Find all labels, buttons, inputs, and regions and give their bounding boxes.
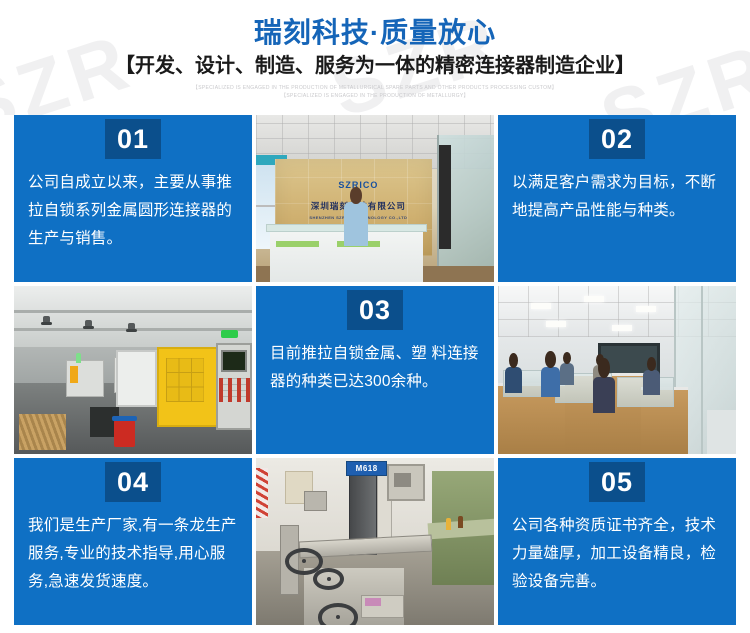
header-text-group: 瑞刻科技·质量放心 【开发、设计、制造、服务为一体的精密连接器制造企业】 【SP… — [0, 0, 750, 100]
feature-cell-01[interactable]: 01 公司自成立以来，主要从事推拉自锁系列金属圆形连接器的生产与销售。 — [14, 115, 252, 282]
office-worker — [541, 367, 560, 397]
wall-electrical-box — [304, 491, 328, 511]
timber-stack — [19, 414, 67, 451]
reception-photo[interactable]: SZRICO 深圳瑞刻科技有限公司 SHENZHEN SZRICO TECHNO… — [256, 115, 494, 282]
feature-body-text: 目前推拉自锁金属、塑 料连接器的种类已达300余种。 — [256, 340, 494, 396]
office-corridor-floor — [707, 410, 736, 454]
cnc-button-keypad — [219, 378, 250, 401]
ceiling-light-panel — [584, 296, 604, 302]
feature-number-badge: 03 — [347, 290, 403, 330]
feature-number-badge: 02 — [589, 119, 645, 159]
machine-model-label: M618 — [346, 461, 386, 476]
feature-number-badge: 01 — [105, 119, 161, 159]
workshop-ceiling — [14, 286, 252, 346]
english-tagline-2: 【SPECIALIZED IS ENGAGED IN THE PRODUCTIO… — [0, 91, 750, 100]
handwheel — [313, 568, 344, 590]
reception-photo-image: SZRICO 深圳瑞刻科技有限公司 SHENZHEN SZRICO TECHNO… — [256, 115, 494, 282]
page-title: 瑞刻科技·质量放心 — [0, 16, 750, 50]
grinder-photo-image: M618 — [256, 458, 494, 625]
feature-grid: 01 公司自成立以来，主要从事推拉自锁系列金属圆形连接器的生产与销售。 SZRI… — [14, 115, 736, 625]
office-worker — [593, 377, 614, 414]
feature-body-text: 公司各种资质证书齐全，技术力量雄厚，加工设备精良，检验设备完善。 — [498, 512, 736, 596]
ceiling-light-panel — [636, 306, 656, 312]
feature-number-badge: 05 — [589, 462, 645, 502]
oil-bottle — [458, 516, 463, 528]
cnc-workshop-photo-image — [14, 286, 252, 453]
cnc-lathe-yellow — [157, 347, 219, 427]
parts-tray — [361, 595, 404, 618]
grinder-photo[interactable]: M618 — [256, 458, 494, 625]
ceiling-lamp — [43, 316, 50, 323]
wall-poster-red — [256, 468, 268, 518]
ceiling-lamp — [85, 320, 92, 327]
auxiliary-machine — [116, 350, 156, 407]
page-subtitle: 【开发、设计、制造、服务为一体的精密连接器制造企业】 — [0, 53, 750, 79]
oil-bottle — [446, 518, 451, 530]
ceiling-lamp — [128, 323, 135, 330]
grinder-motor-head — [387, 464, 425, 501]
ceiling-beam — [14, 310, 252, 313]
feature-number-badge: 04 — [105, 462, 161, 502]
handwheel — [318, 603, 358, 625]
cnc-workshop-photo[interactable] — [14, 286, 252, 453]
office-photo[interactable] — [498, 286, 736, 453]
green-signal-lamp — [76, 353, 81, 363]
feature-cell-02[interactable]: 02 以满足客户需求为目标，不断地提高产品性能与种类。 — [498, 115, 736, 282]
feature-body-text: 公司自成立以来，主要从事推拉自锁系列金属圆形连接器的生产与销售。 — [14, 169, 252, 253]
banner-header: SZR SZR SZR 瑞刻科技·质量放心 【开发、设计、制造、服务为一体的精密… — [0, 0, 750, 115]
red-waste-bin — [114, 420, 135, 447]
feature-body-text: 以满足客户需求为目标，不断地提高产品性能与种类。 — [498, 169, 736, 225]
ceiling-light-panel — [612, 325, 632, 331]
lathe-machine-background — [66, 360, 104, 397]
green-indicator-light — [221, 330, 238, 338]
doorway — [439, 145, 451, 249]
milling-machine-green — [432, 471, 494, 585]
receptionist-person — [344, 202, 368, 246]
feature-cell-04[interactable]: 04 我们是生产厂家,有一条龙生产服务,专业的技术指导,用心服务,急速发货速度。 — [14, 458, 252, 625]
cnc-display-screen — [221, 350, 247, 372]
feature-cell-03[interactable]: 03 目前推拉自锁金属、塑 料连接器的种类已达300余种。 — [256, 286, 494, 453]
feature-cell-05[interactable]: 05 公司各种资质证书齐全，技术力量雄厚，加工设备精良，检验设备完善。 — [498, 458, 736, 625]
office-worker — [505, 367, 522, 394]
ceiling-light-panel — [531, 303, 551, 309]
ceiling-light-panel — [546, 321, 566, 327]
office-photo-image — [498, 286, 736, 453]
company-intro-banner: SZR SZR SZR 瑞刻科技·质量放心 【开发、设计、制造、服务为一体的精密… — [0, 0, 750, 633]
office-worker — [643, 370, 660, 395]
office-worker — [560, 363, 574, 385]
feature-body-text: 我们是生产厂家,有一条龙生产服务,专业的技术指导,用心服务,急速发货速度。 — [14, 512, 252, 596]
